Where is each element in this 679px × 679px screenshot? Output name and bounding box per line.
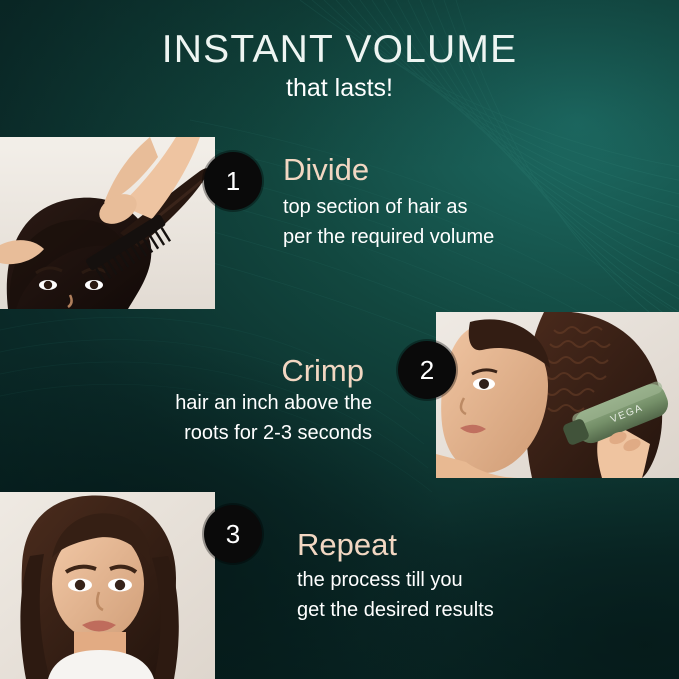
- step-1-body-line-1: top section of hair as: [283, 192, 494, 222]
- step-2-body-line-2: roots for 2-3 seconds: [175, 418, 372, 448]
- step-3-title: Repeat: [297, 527, 397, 563]
- step-3-body-line-1: the process till you: [297, 565, 494, 595]
- page-subtitle: that lasts!: [0, 74, 679, 103]
- step-3-body-line-2: get the desired results: [297, 595, 494, 625]
- page-title: INSTANT VOLUME: [0, 28, 679, 72]
- step-2-body-line-1: hair an inch above the: [175, 388, 372, 418]
- poster-root: INSTANT VOLUME that lasts!: [0, 0, 679, 679]
- step-3-badge: 3: [204, 505, 262, 563]
- step-1-photo: [0, 137, 215, 309]
- step-2-body: hair an inch above the roots for 2-3 sec…: [175, 388, 372, 448]
- step-1-body-line-2: per the required volume: [283, 222, 494, 252]
- step-1-title: Divide: [283, 152, 369, 188]
- step-3-photo: [0, 492, 215, 679]
- step-3-body: the process till you get the desired res…: [297, 565, 494, 625]
- step-1-body: top section of hair as per the required …: [283, 192, 494, 252]
- step-1-badge: 1: [204, 152, 262, 210]
- step-2-photo: VEGA: [436, 312, 679, 478]
- step-2-badge: 2: [398, 341, 456, 399]
- step-2-title: Crimp: [281, 353, 364, 389]
